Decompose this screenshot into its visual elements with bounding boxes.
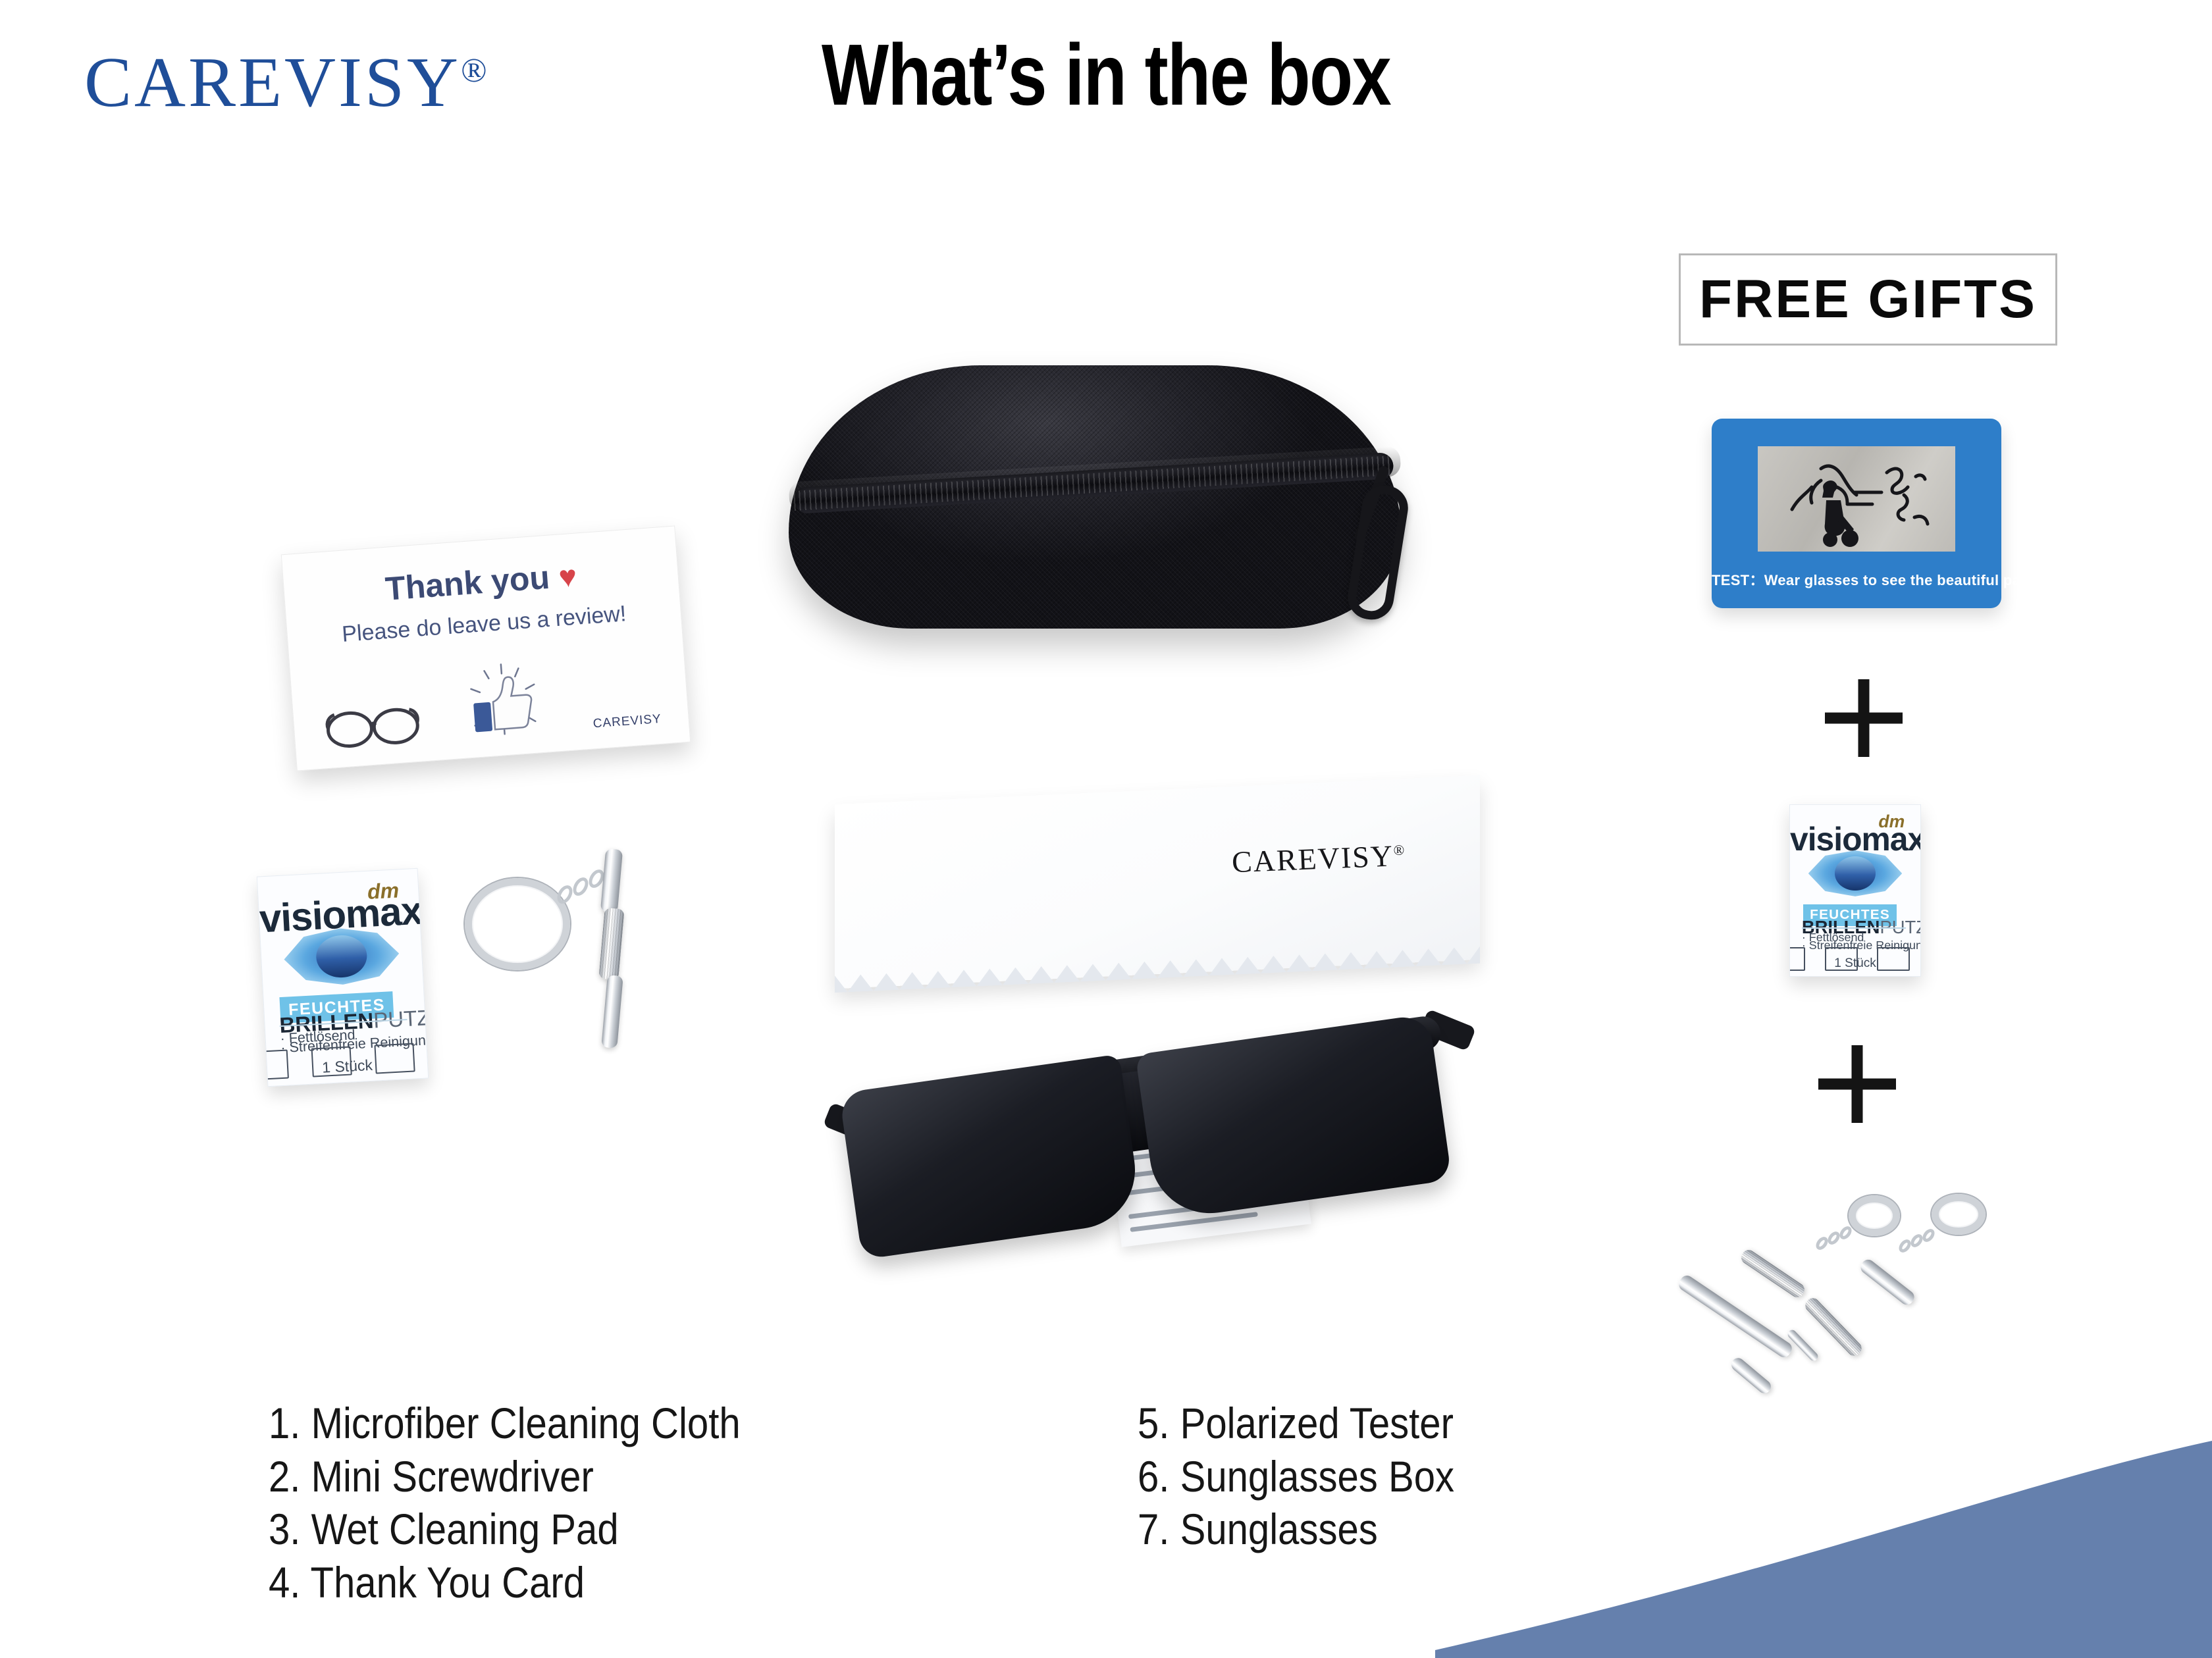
gift-wet-cleaning-pad-sachet: dm visiomax FEUCHTES BRILLENPUTZTUCH · F…	[1789, 804, 1921, 977]
eyeglasses-icon	[322, 697, 424, 752]
items-list-left: 1. Microfiber Cleaning Cloth 2. Mini Scr…	[269, 1397, 804, 1609]
plus-separator-icon-2	[1818, 1045, 1896, 1123]
list-item: 4. Thank You Card	[269, 1556, 741, 1609]
list-item: 5. Polarized Tester	[1138, 1397, 1454, 1450]
thumbs-up-icon	[461, 658, 546, 740]
list-item: 6. Sunglasses Box	[1138, 1450, 1454, 1503]
gift-quantity-label: 1 Stück	[1790, 956, 1920, 971]
items-list-right: 5. Polarized Tester 6. Sunglasses Box 7.…	[1138, 1397, 1498, 1556]
wet-cleaning-pad-sachet: dm visiomax FEUCHTES BRILLENPUTZTUCH · F…	[257, 868, 429, 1087]
decorative-corner-swoosh	[1435, 1441, 2212, 1658]
gift-screwdriver-2-cap	[1729, 1355, 1774, 1396]
gift-screwdriver-set	[1720, 1179, 2009, 1397]
free-gifts-label: FREE GIFTS	[1699, 269, 2037, 330]
free-gifts-badge: FREE GIFTS	[1679, 253, 2057, 346]
sunglasses-box	[769, 365, 1467, 648]
key-ring-icon	[465, 878, 570, 970]
gift-screwdriver-1-grip	[1739, 1247, 1806, 1300]
plus-separator-icon-1	[1825, 679, 1903, 757]
cloth-brand-label: CAREVISY®	[1231, 838, 1407, 880]
polarized-tester-card: TEST：Wear glasses to see the beautiful p…	[1712, 419, 2001, 608]
gift-key-ring-icon-2	[1932, 1194, 1986, 1235]
tester-caption: TEST：Wear glasses to see the beautiful p…	[1712, 569, 2001, 590]
microfiber-cleaning-cloth: CAREVISY®	[835, 790, 1480, 974]
sunglasses-right-lens	[1135, 1014, 1452, 1221]
sunglasses	[831, 994, 1469, 1270]
qr-brand-label: CAREVISY	[592, 712, 662, 731]
tester-line-art-icon	[1758, 446, 1955, 552]
list-item: 2. Mini Screwdriver	[269, 1450, 741, 1503]
thank-you-card: Thank you ♥ Please do leave us a review!…	[281, 525, 691, 771]
gift-screwdriver-handle-sleeve	[1858, 1257, 1916, 1307]
mini-screwdriver-keychain	[461, 844, 665, 1081]
list-item: 3. Wet Cleaning Pad	[269, 1503, 741, 1556]
gift-divider	[1802, 927, 1906, 929]
screwdriver-tip	[601, 975, 623, 1049]
list-item: 7. Sunglasses	[1138, 1503, 1454, 1556]
page-title: What’s in the box	[199, 32, 2013, 118]
screwdriver-grip	[598, 908, 624, 980]
thank-you-icon-row: CAREVISY	[319, 648, 666, 752]
gift-chain-icon-2	[1900, 1230, 1939, 1256]
qr-code-block: CAREVISY	[588, 712, 666, 732]
cloth-sheet	[835, 775, 1480, 989]
list-item: 1. Microfiber Cleaning Cloth	[269, 1397, 741, 1450]
gift-screwdriver-1	[1676, 1273, 1794, 1360]
tester-pattern-window	[1758, 446, 1955, 552]
sunglasses-left-lens	[839, 1054, 1142, 1259]
heart-icon: ♥	[558, 559, 578, 594]
cloth-registered-trademark-icon: ®	[1393, 841, 1406, 858]
thank-you-title-text: Thank you	[384, 559, 550, 608]
gift-chain-icon-1	[1817, 1227, 1856, 1253]
cloth-brand-text: CAREVISY	[1231, 839, 1394, 879]
